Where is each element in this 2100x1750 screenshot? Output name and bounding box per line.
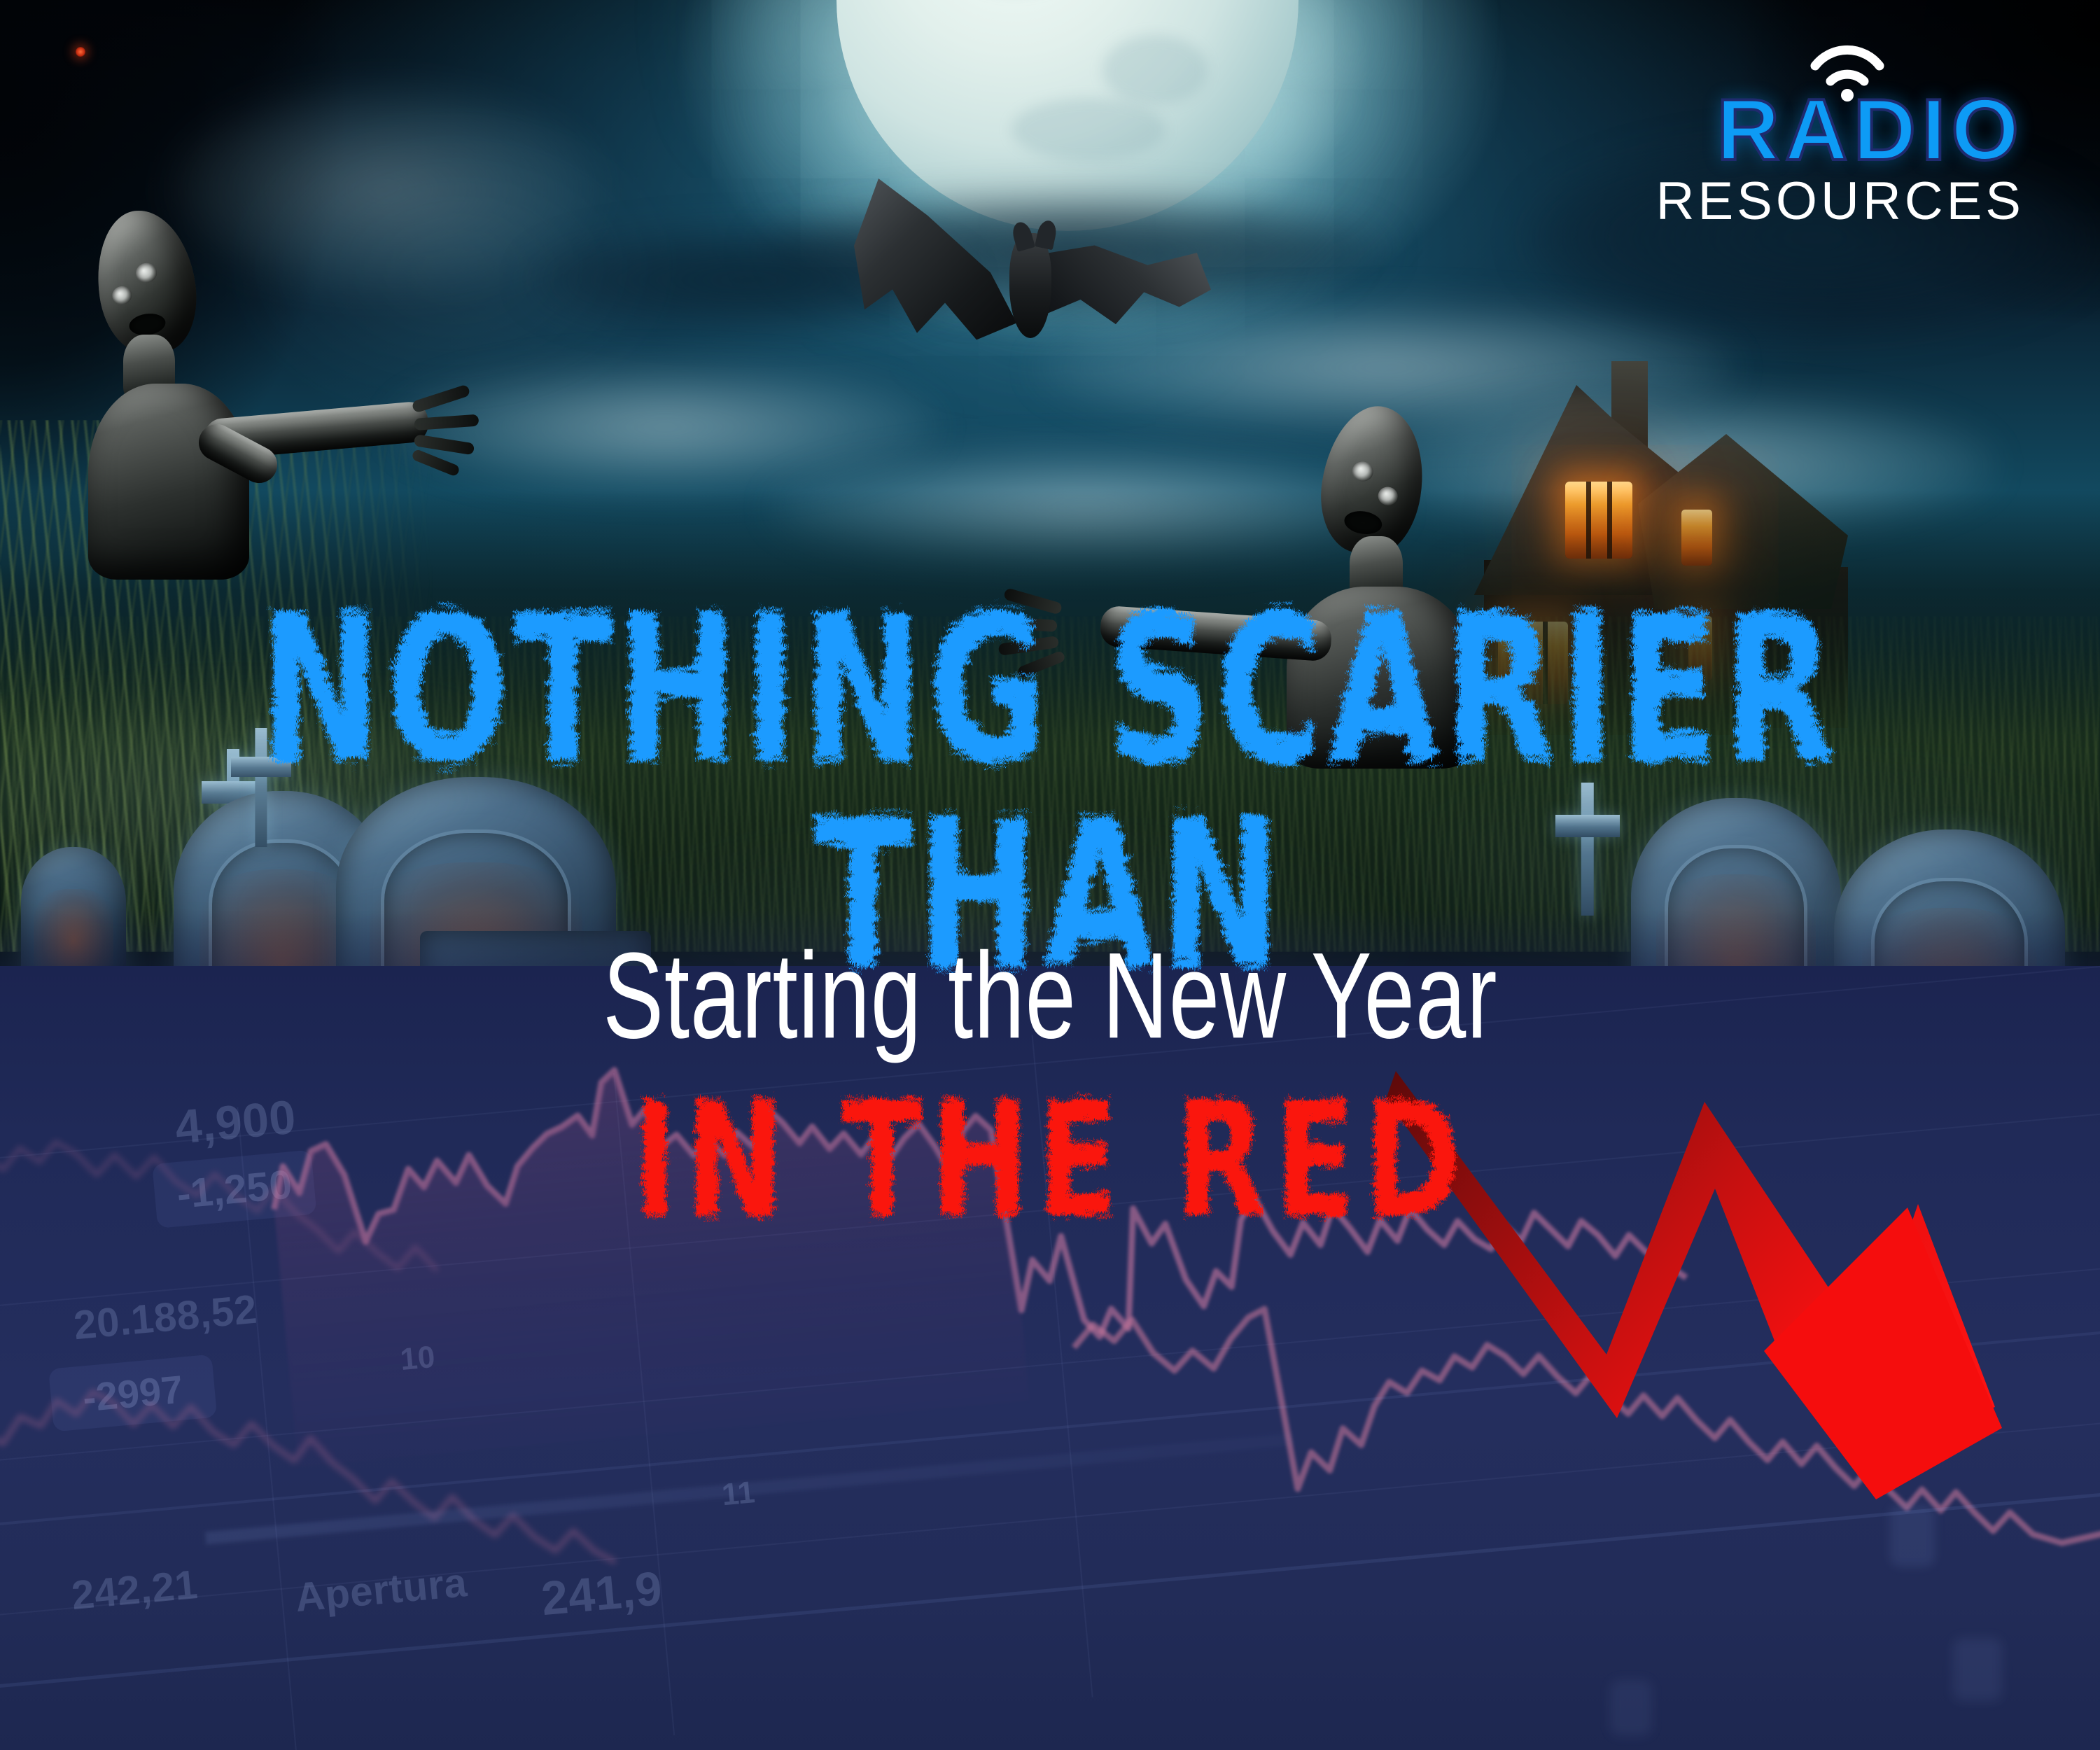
- headline-block: NOTHING SCARIER THAN Starting the New Ye…: [0, 588, 2100, 1203]
- headline-line-3: IN THE RED: [632, 1079, 1469, 1240]
- flying-bat-icon: [847, 178, 1211, 381]
- red-star-glow: [76, 47, 85, 57]
- logo-resources-text: RESOURCES: [1656, 174, 2024, 229]
- bat-wing-right: [1035, 243, 1211, 366]
- bat-ear-right: [1035, 219, 1058, 251]
- wifi-signal-icon: [1805, 38, 1889, 102]
- bat-wing-left: [847, 178, 1022, 346]
- screen-glyph-2: [1953, 1638, 2002, 1701]
- zombie-left-hand: [413, 393, 490, 470]
- halloween-marketing-poster: 4,900 -1,250 20.188,52 -2997 10 11 242,2…: [0, 0, 2100, 1750]
- bat-body: [1009, 233, 1051, 338]
- headline-line-2: Starting the New Year: [603, 935, 1497, 1058]
- screen-glyph-3: [1610, 1680, 1652, 1736]
- brand-logo[interactable]: RADIO RESOURCES: [1656, 90, 2024, 228]
- screen-glyph-1: [1890, 1505, 1935, 1567]
- zombie-left-torso: [88, 384, 249, 580]
- open-value: 241,9: [539, 1561, 664, 1626]
- zombie-left: [84, 210, 518, 574]
